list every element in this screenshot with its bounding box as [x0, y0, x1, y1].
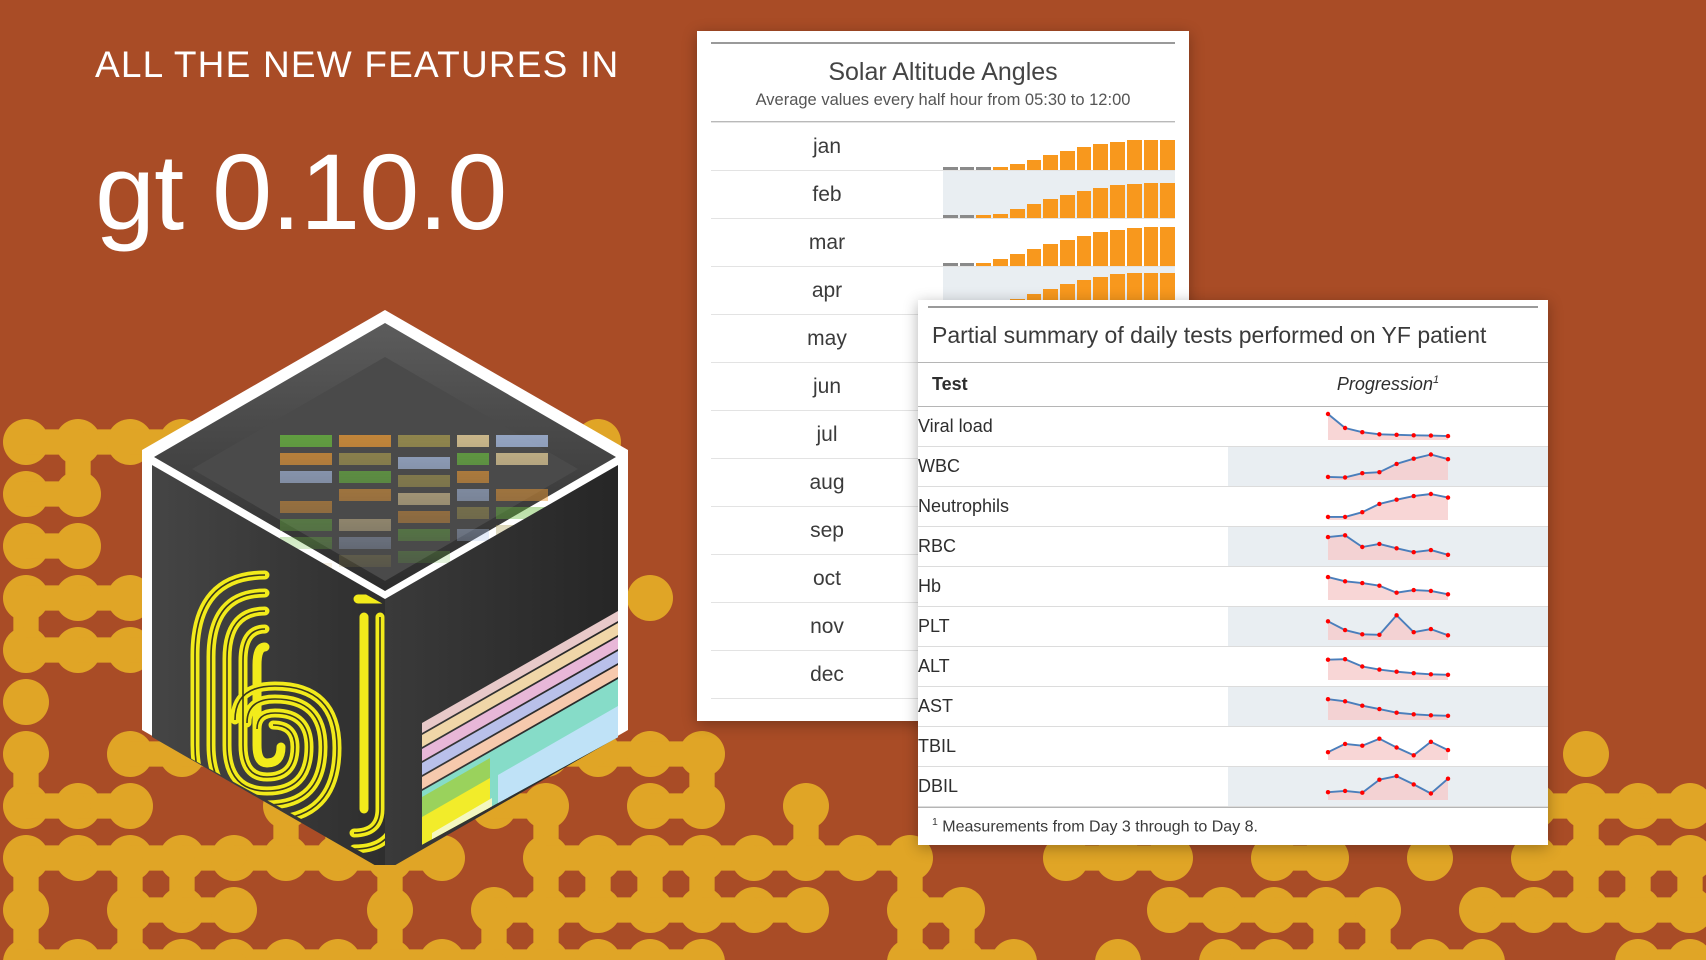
sparkline-point — [1412, 671, 1416, 675]
solar-row-month: jul — [711, 411, 943, 459]
sparkline-point — [1412, 456, 1416, 460]
sparkline-point — [1326, 790, 1330, 794]
solar-row-month: aug — [711, 459, 943, 507]
sparkline — [1323, 409, 1453, 445]
sparkline-point — [1429, 713, 1433, 717]
table-row: feb — [711, 171, 1175, 219]
sparkline-point — [1343, 741, 1347, 745]
sparkline-point — [1412, 550, 1416, 554]
solar-bar — [1010, 209, 1025, 218]
sparkline-point — [1429, 672, 1433, 676]
sparkline-point — [1412, 493, 1416, 497]
solar-bar — [1027, 249, 1042, 266]
sparkline — [1323, 489, 1453, 525]
sparkline-point — [1360, 664, 1364, 668]
table-row: mar — [711, 219, 1175, 267]
sparkline-point — [1446, 713, 1450, 717]
solar-bar — [1110, 185, 1125, 218]
sparkline-point — [1360, 580, 1364, 584]
sparkline-point — [1394, 590, 1398, 594]
sparkline-point — [1394, 461, 1398, 465]
table-row: AST — [918, 687, 1548, 727]
yf-row-test-name: Neutrophils — [918, 487, 1228, 527]
sparkline-point — [1394, 710, 1398, 714]
yf-table: Test Progression1 Viral loadWBCNeutrophi… — [918, 362, 1548, 807]
sparkline-point — [1377, 667, 1381, 671]
sparkline-point — [1326, 657, 1330, 661]
solar-row-month: sep — [711, 507, 943, 555]
sparkline-point — [1343, 514, 1347, 518]
solar-table-subtitle: Average values every half hour from 05:3… — [711, 91, 1175, 121]
sparkline-point — [1360, 790, 1364, 794]
yf-row-progression-sparkline — [1228, 407, 1548, 447]
solar-bar — [1093, 232, 1108, 266]
sparkline-point — [1343, 579, 1347, 583]
solar-bar — [1060, 195, 1075, 218]
solar-bar — [993, 167, 1008, 170]
yf-patient-table-card: Partial summary of daily tests performed… — [918, 300, 1548, 845]
yf-row-progression-sparkline — [1228, 767, 1548, 807]
sparkline-point — [1326, 411, 1330, 415]
sparkline-point — [1326, 574, 1330, 578]
sparkline-point — [1446, 552, 1450, 556]
sparkline-point — [1377, 470, 1381, 474]
table-row: TBIL — [918, 727, 1548, 767]
solar-bar — [1077, 236, 1092, 266]
solar-bar — [1093, 144, 1108, 170]
sparkline — [1323, 609, 1453, 645]
solar-bar — [1060, 151, 1075, 170]
solar-row-month: apr — [711, 267, 943, 315]
yf-header-row: Test Progression1 — [918, 363, 1548, 407]
yf-row-progression-sparkline — [1228, 447, 1548, 487]
sparkline-point — [1394, 497, 1398, 501]
table-row: DBIL — [918, 767, 1548, 807]
solar-row-month: oct — [711, 555, 943, 603]
sparkline — [1323, 529, 1453, 565]
solar-bar — [993, 259, 1008, 266]
sparkline-point — [1343, 788, 1347, 792]
sparkline-point — [1326, 534, 1330, 538]
sparkline-point — [1360, 510, 1364, 514]
solar-bar — [976, 263, 991, 266]
headline-title: gt 0.10.0 — [95, 138, 619, 246]
sparkline-point — [1377, 706, 1381, 710]
sparkline-point — [1360, 544, 1364, 548]
yf-footnote-marker: 1 — [932, 816, 938, 828]
sparkline — [1323, 569, 1453, 605]
sparkline-point — [1360, 632, 1364, 636]
sparkline-area — [1328, 659, 1448, 680]
solar-table-title: Solar Altitude Angles — [711, 44, 1175, 91]
yf-row-test-name: WBC — [918, 447, 1228, 487]
sparkline-point — [1326, 697, 1330, 701]
sparkline-point — [1360, 471, 1364, 475]
solar-bar — [943, 167, 958, 170]
sparkline-point — [1429, 739, 1433, 743]
yf-footnote: 1 Measurements from Day 3 through to Day… — [918, 807, 1548, 844]
yf-col-header-progression: Progression1 — [1228, 363, 1548, 407]
solar-bar — [1144, 183, 1159, 218]
table-row: ALT — [918, 647, 1548, 687]
sparkline-point — [1394, 745, 1398, 749]
solar-bar — [960, 263, 975, 266]
sparkline-point — [1360, 743, 1364, 747]
sparkline-point — [1343, 657, 1347, 661]
sparkline-point — [1412, 753, 1416, 757]
sparkline-point — [1446, 672, 1450, 676]
sparkline-point — [1377, 432, 1381, 436]
solar-bar — [1043, 155, 1058, 170]
sparkline-point — [1326, 514, 1330, 518]
table-row: Neutrophils — [918, 487, 1548, 527]
sparkline-point — [1343, 533, 1347, 537]
sparkline-point — [1429, 626, 1433, 630]
yf-row-progression-sparkline — [1228, 487, 1548, 527]
sparkline — [1323, 769, 1453, 805]
sparkline-point — [1412, 630, 1416, 634]
solar-bar — [1160, 227, 1175, 266]
solar-bar — [960, 215, 975, 218]
solar-bar — [1010, 164, 1025, 170]
solar-bar — [1160, 140, 1175, 170]
solar-row-barchart — [943, 219, 1175, 267]
solar-bar — [1010, 254, 1025, 266]
sparkline-point — [1429, 791, 1433, 795]
sparkline-point — [1429, 452, 1433, 456]
headline-block: ALL THE NEW FEATURES IN gt 0.10.0 — [95, 45, 619, 246]
yf-row-progression-sparkline — [1228, 727, 1548, 767]
sparkline-point — [1326, 474, 1330, 478]
solar-bar — [993, 214, 1008, 218]
sparkline-point — [1326, 750, 1330, 754]
yf-footnote-text: Measurements from Day 3 through to Day 8… — [942, 818, 1258, 835]
yf-row-test-name: TBIL — [918, 727, 1228, 767]
yf-row-progression-sparkline — [1228, 567, 1548, 607]
solar-row-month: feb — [711, 171, 943, 219]
sparkline-point — [1429, 491, 1433, 495]
solar-bar — [1027, 160, 1042, 171]
sparkline-point — [1377, 632, 1381, 636]
solar-bar — [943, 263, 958, 266]
yf-table-title: Partial summary of daily tests performed… — [918, 308, 1548, 362]
solar-bar — [1127, 184, 1142, 218]
sparkline-point — [1429, 547, 1433, 551]
solar-bar — [976, 215, 991, 218]
sparkline-point — [1343, 627, 1347, 631]
solar-bar — [1127, 228, 1142, 266]
sparkline-point — [1360, 703, 1364, 707]
solar-bar — [1077, 191, 1092, 218]
sparkline — [1323, 689, 1453, 725]
sparkline-point — [1446, 592, 1450, 596]
solar-bar — [1110, 142, 1125, 170]
solar-bar — [960, 167, 975, 170]
yf-row-test-name: Hb — [918, 567, 1228, 607]
yf-col-header-progression-superscript: 1 — [1433, 374, 1439, 386]
gt-package-cube-illustration — [140, 305, 640, 865]
solar-row-month: mar — [711, 219, 943, 267]
solar-row-month: jun — [711, 363, 943, 411]
yf-row-test-name: ALT — [918, 647, 1228, 687]
sparkline-point — [1446, 495, 1450, 499]
yf-row-progression-sparkline — [1228, 647, 1548, 687]
sparkline-point — [1446, 457, 1450, 461]
sparkline-point — [1377, 736, 1381, 740]
solar-bar — [1144, 227, 1159, 266]
solar-row-month: dec — [711, 651, 943, 699]
sparkline-point — [1394, 432, 1398, 436]
table-row: jan — [711, 123, 1175, 171]
solar-row-month: may — [711, 315, 943, 363]
solar-bar — [1144, 140, 1159, 170]
solar-bar — [1160, 183, 1175, 218]
sparkline-point — [1429, 588, 1433, 592]
solar-bar — [1093, 188, 1108, 218]
solar-bar — [1043, 199, 1058, 218]
yf-row-test-name: Viral load — [918, 407, 1228, 447]
sparkline-point — [1446, 776, 1450, 780]
sparkline-point — [1394, 546, 1398, 550]
table-row: Viral load — [918, 407, 1548, 447]
yf-row-progression-sparkline — [1228, 607, 1548, 647]
solar-row-month: jan — [711, 123, 943, 171]
sparkline-point — [1394, 669, 1398, 673]
sparkline-point — [1360, 430, 1364, 434]
sparkline-point — [1429, 433, 1433, 437]
headline-kicker: ALL THE NEW FEATURES IN — [95, 45, 619, 86]
sparkline-point — [1343, 475, 1347, 479]
sparkline — [1323, 649, 1453, 685]
solar-bar — [1127, 140, 1142, 170]
sparkline-area — [1328, 776, 1448, 800]
sparkline-point — [1343, 425, 1347, 429]
table-row: WBC — [918, 447, 1548, 487]
yf-row-test-name: AST — [918, 687, 1228, 727]
table-row: RBC — [918, 527, 1548, 567]
yf-row-test-name: PLT — [918, 607, 1228, 647]
sparkline-point — [1377, 501, 1381, 505]
sparkline-point — [1446, 433, 1450, 437]
sparkline-point — [1394, 773, 1398, 777]
solar-bar — [1043, 244, 1058, 266]
sparkline-area — [1328, 535, 1448, 560]
sparkline-point — [1377, 777, 1381, 781]
sparkline-point — [1412, 587, 1416, 591]
sparkline-point — [1394, 613, 1398, 617]
sparkline-point — [1446, 633, 1450, 637]
solar-bar — [1077, 147, 1092, 170]
yf-row-test-name: DBIL — [918, 767, 1228, 807]
sparkline — [1323, 449, 1453, 485]
sparkline-point — [1343, 699, 1347, 703]
solar-row-barchart — [943, 123, 1175, 171]
sparkline — [1323, 729, 1453, 765]
solar-bar — [943, 215, 958, 218]
solar-row-barchart — [943, 171, 1175, 219]
sparkline-point — [1412, 433, 1416, 437]
table-row: Hb — [918, 567, 1548, 607]
sparkline-point — [1412, 782, 1416, 786]
solar-bar — [976, 167, 991, 170]
solar-row-month: nov — [711, 603, 943, 651]
yf-row-progression-sparkline — [1228, 687, 1548, 727]
sparkline-point — [1412, 712, 1416, 716]
solar-bar — [1027, 204, 1042, 218]
sparkline-point — [1377, 541, 1381, 545]
sparkline-point — [1446, 747, 1450, 751]
yf-col-header-test: Test — [918, 363, 1228, 407]
yf-row-progression-sparkline — [1228, 527, 1548, 567]
sparkline-point — [1377, 583, 1381, 587]
solar-bar — [1110, 230, 1125, 266]
solar-bar — [1060, 240, 1075, 266]
yf-row-test-name: RBC — [918, 527, 1228, 567]
yf-col-header-progression-label: Progression — [1337, 374, 1433, 394]
sparkline-point — [1326, 619, 1330, 623]
table-row: PLT — [918, 607, 1548, 647]
